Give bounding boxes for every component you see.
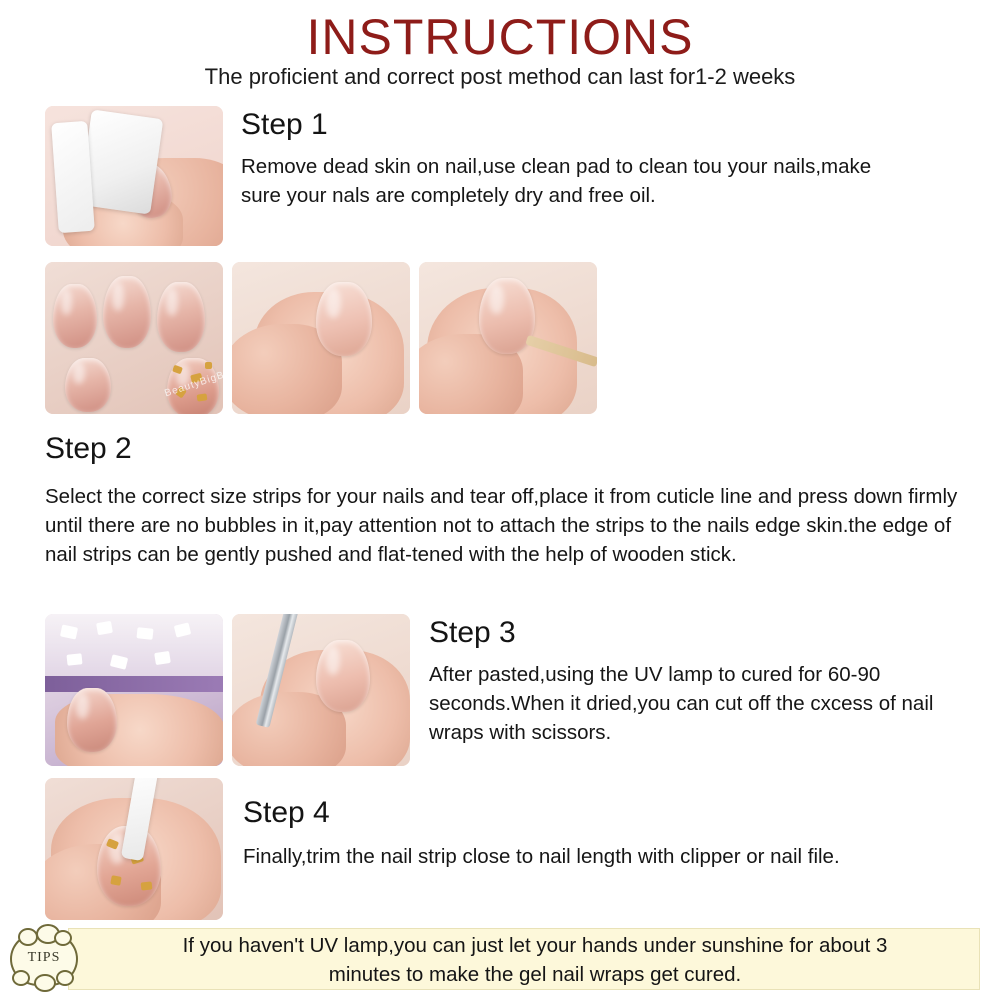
instructions-page: INSTRUCTIONS The proficient and correct … xyxy=(0,0,1000,1000)
photo-wooden-stick xyxy=(419,262,597,414)
photo-metal-file xyxy=(232,614,410,766)
photo-painted-nails: BeautyBigBang xyxy=(45,262,223,414)
tips-badge: TIPS xyxy=(8,926,80,992)
step-4-body: Finally,trim the nail strip close to nai… xyxy=(243,842,963,871)
step-2-heading: Step 2 xyxy=(45,432,132,466)
step-3-heading: Step 3 xyxy=(429,616,516,650)
photo-nail-strips-sheet xyxy=(45,614,223,766)
page-subtitle: The proficient and correct post method c… xyxy=(0,64,1000,90)
step-4-heading: Step 4 xyxy=(243,796,330,830)
photo-nail-file-shaping xyxy=(45,778,223,920)
step-2-body: Select the correct size strips for your … xyxy=(45,482,960,569)
step-1-body: Remove dead skin on nail,use clean pad t… xyxy=(241,152,901,210)
tips-badge-label: TIPS xyxy=(8,950,80,966)
page-title: INSTRUCTIONS xyxy=(0,8,1000,66)
photo-bare-nail xyxy=(232,262,410,414)
photo-step1-main xyxy=(45,106,223,246)
step-1-heading: Step 1 xyxy=(241,108,328,142)
tips-text: If you haven't UV lamp,you can just let … xyxy=(150,932,920,989)
step-3-body: After pasted,using the UV lamp to cured … xyxy=(429,660,954,747)
